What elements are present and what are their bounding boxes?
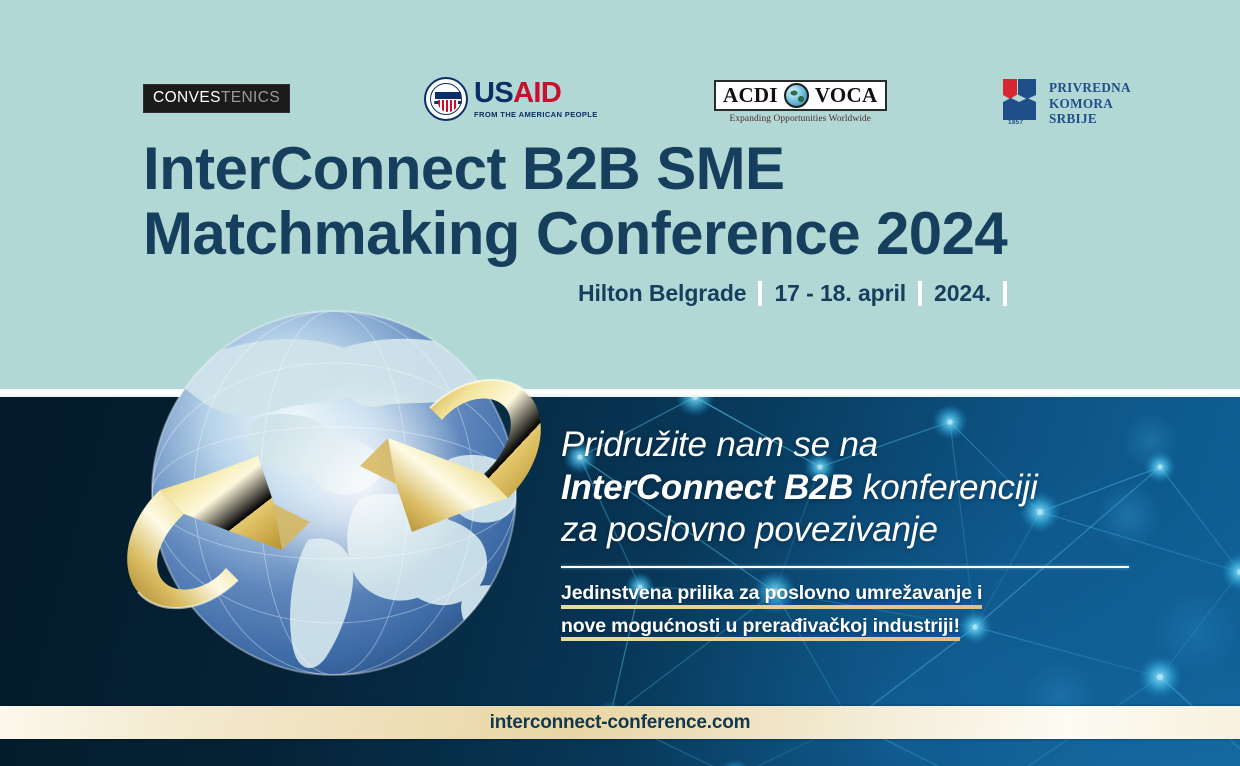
usaid-seal-icon [424,77,468,121]
event-title-line-2: Matchmaking Conference 2024 [143,202,1153,265]
horizontal-rule [561,566,1129,568]
subcopy-line-1: Jedinstvena prilika za poslovno umrežava… [561,584,982,607]
event-venue: Hilton Belgrade [578,280,746,307]
usaid-tagline: FROM THE AMERICAN PEOPLE [474,111,598,119]
footer-url-bar: interconnect-conference.com [0,706,1240,739]
convestenics-text-light: CONVES [153,89,221,106]
partner-logo-row: CONVESTENICS USAID FROM THE AMERICAN PEO… [0,74,1240,128]
logo-acdi-voca: ACDI VOCA Expanding Opportunities Worldw… [714,80,887,124]
copy-line-3: za poslovno povezivanje [561,509,1161,552]
event-title: InterConnect B2B SME Matchmaking Confere… [143,137,1153,265]
pks-emblem-icon: 1857 [1000,78,1040,124]
copy-line-2-rest: konferenciji [853,468,1037,507]
copy-line-1: Pridružite nam se na [561,424,1161,467]
globe-graphic [112,288,557,688]
acdi-voca-tagline: Expanding Opportunities Worldwide [730,114,871,124]
pks-line-1: PRIVREDNA [1049,80,1131,96]
serbian-headline-copy: Pridružite nam se na InterConnect B2B ko… [561,424,1161,552]
subcopy-line-2: nove mogućnosti u prerađivačkoj industri… [561,617,960,640]
event-meta: Hilton Belgrade 17 - 18. april 2024. [578,280,1019,307]
voca-word: VOCA [810,83,883,108]
acdi-word: ACDI [718,83,783,108]
pks-founded-year: 1857 [1008,119,1023,126]
usaid-word-us: US [474,77,513,109]
pks-line-2: KOMORA [1049,96,1131,112]
pks-line-3: SRBIJE [1049,111,1131,127]
event-dates: 17 - 18. april [774,280,906,307]
convestenics-text-dim: TENICS [221,89,280,106]
logo-usaid: USAID FROM THE AMERICAN PEOPLE [424,77,598,121]
usaid-word-aid: AID [513,77,561,109]
acdi-globe-icon [784,83,809,108]
event-promo-banner: CONVESTENICS USAID FROM THE AMERICAN PEO… [0,0,1240,766]
meta-separator-1 [758,281,762,306]
meta-separator-3 [1003,281,1007,306]
meta-separator-2 [918,281,922,306]
logo-privredna-komora-srbije: 1857 PRIVREDNA KOMORA SRBIJE [1000,78,1131,127]
event-year: 2024. [934,280,991,307]
conference-website-url[interactable]: interconnect-conference.com [490,712,751,734]
event-title-line-1: InterConnect B2B SME [143,137,1153,200]
copy-line-2-brand: InterConnect B2B [561,468,853,507]
copy-line-2: InterConnect B2B konferenciji [561,467,1161,510]
serbian-subcopy: Jedinstvena prilika za poslovno umrežava… [561,584,982,649]
logo-convestenics: CONVESTENICS [143,84,290,113]
convestenics-wordmark: CONVESTENICS [143,84,290,113]
